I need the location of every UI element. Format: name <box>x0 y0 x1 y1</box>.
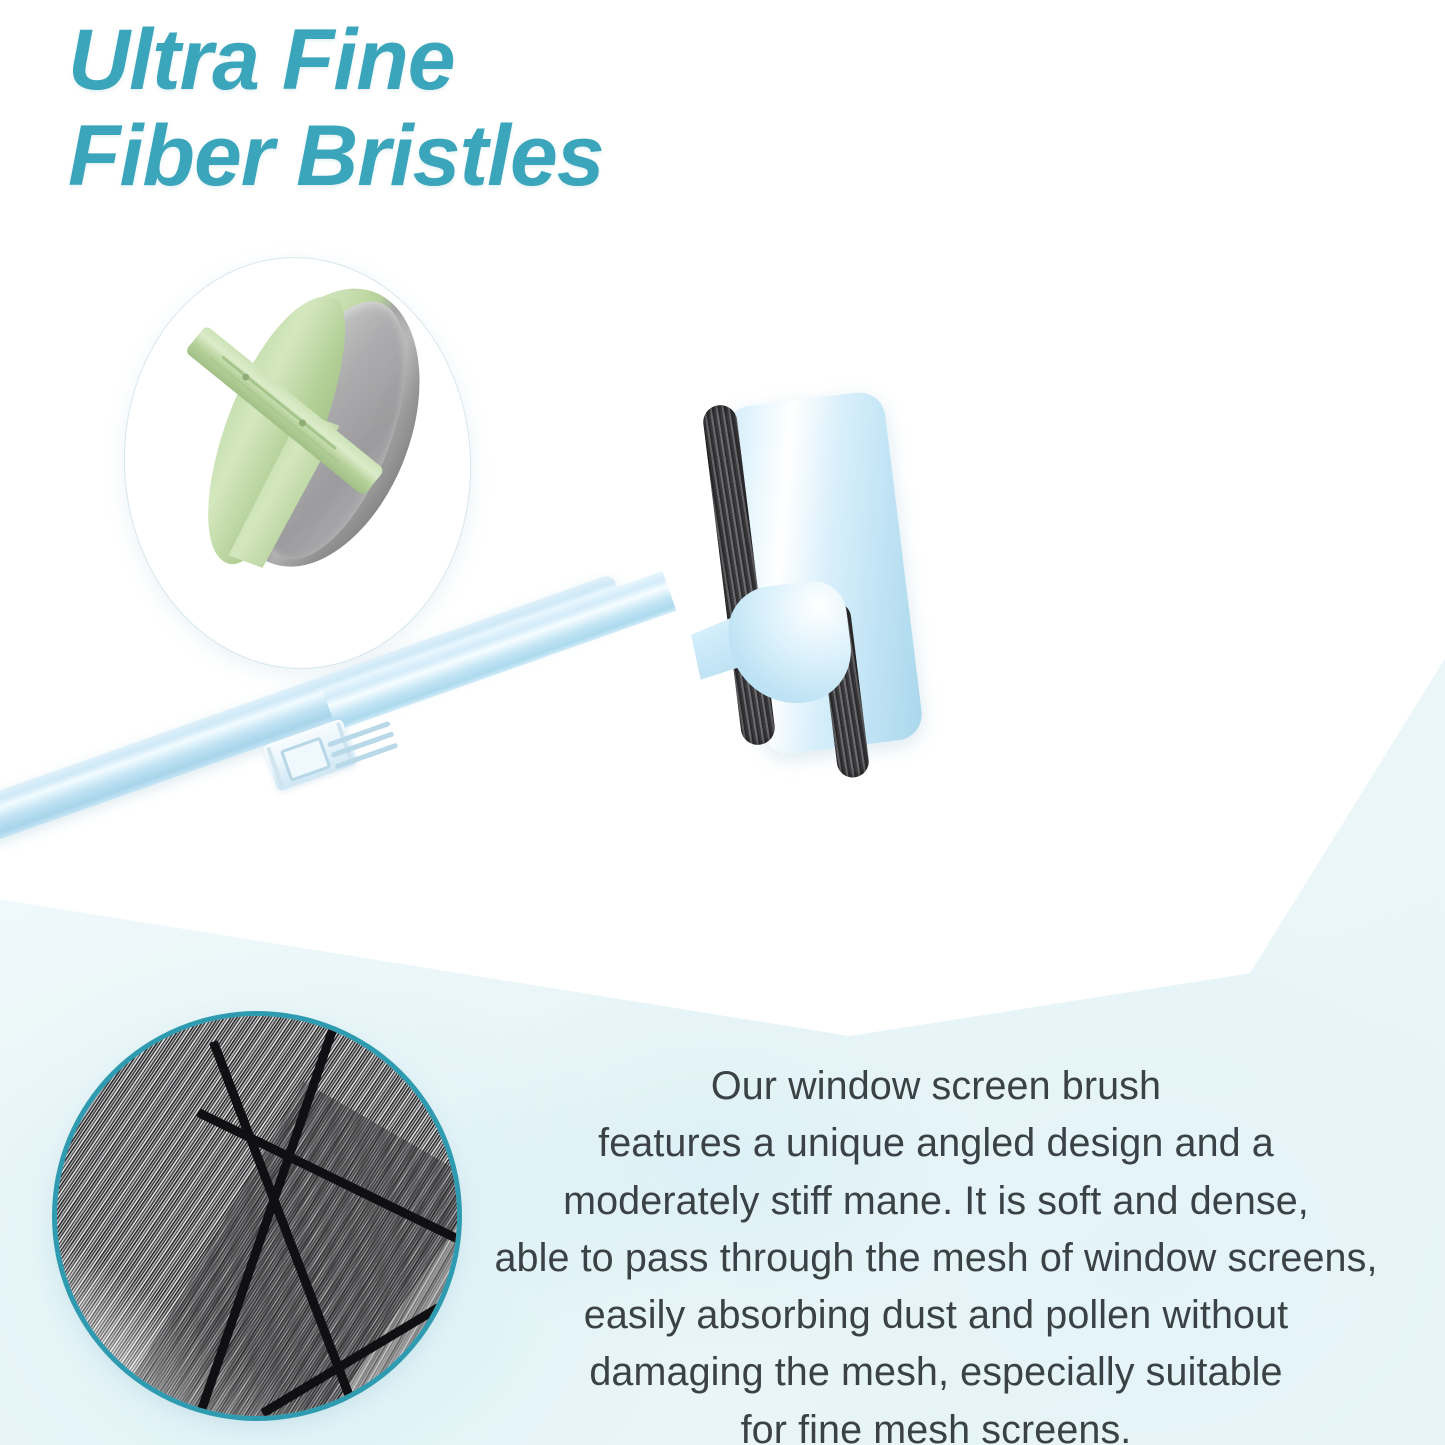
brush-head <box>700 398 970 770</box>
product-description: Our window screen brush features a uniqu… <box>480 1058 1392 1445</box>
page-title: Ultra Fine Fiber Bristles <box>68 12 604 205</box>
product-feature-poster: Ultra Fine Fiber Bristles <box>0 0 1445 1445</box>
collar-window <box>280 736 332 782</box>
bristle-macro-inset-circle <box>57 1016 457 1416</box>
